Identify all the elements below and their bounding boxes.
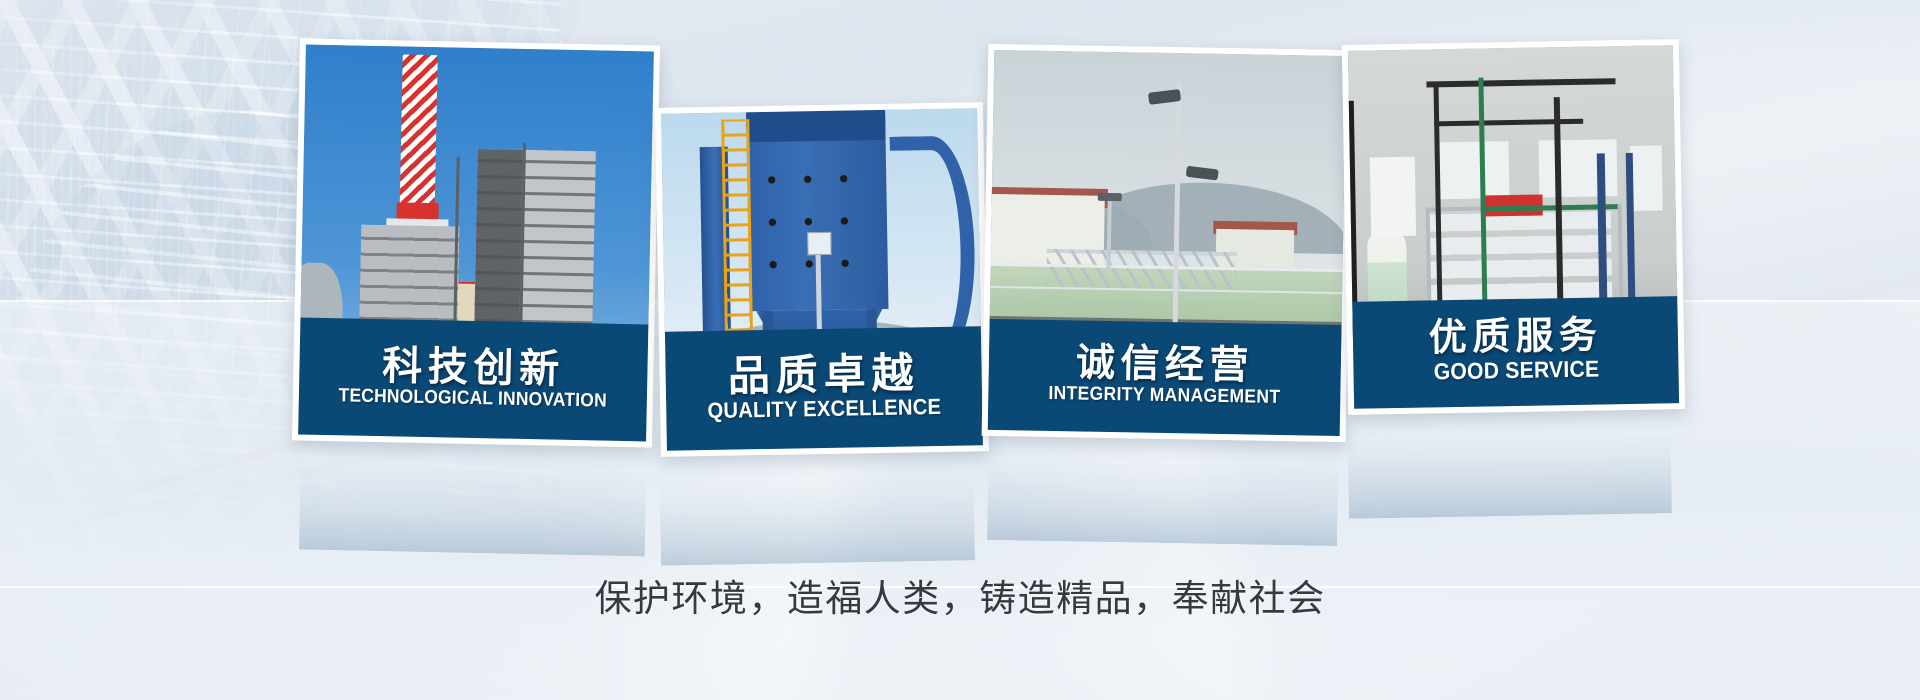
panel-title-cn: 科技创新 <box>382 345 565 391</box>
panel-title-cn: 诚信经营 <box>1076 344 1255 388</box>
panel-reflection <box>659 440 975 565</box>
panel-caption: 诚信经营 INTEGRITY MANAGEMENT <box>988 319 1342 436</box>
panel-title-cn: 优质服务 <box>1428 317 1602 360</box>
dust-collector-equipment-photo: 品质卓越 QUALITY EXCELLENCE <box>661 108 983 450</box>
value-panel-quality-excellence[interactable]: 品质卓越 QUALITY EXCELLENCE <box>655 102 989 457</box>
photo-tower-shadow <box>474 149 523 337</box>
background-light-streaks <box>0 430 1920 700</box>
panel-reflection <box>299 430 647 557</box>
value-panel-technological-innovation[interactable]: 科技创新 TECHNOLOGICAL INNOVATION <box>292 38 660 447</box>
photo-window <box>1369 157 1416 237</box>
promo-banner: 科技创新 TECHNOLOGICAL INNOVATION 品质卓越 QU <box>0 0 1920 700</box>
panel-title-en: GOOD SERVICE <box>1433 357 1599 385</box>
panel-title-en: INTEGRITY MANAGEMENT <box>1048 384 1280 409</box>
photo-smokestack <box>400 54 438 218</box>
panel-reflection <box>987 425 1339 546</box>
panel-caption: 优质服务 GOOD SERVICE <box>1352 296 1679 409</box>
photo-window-2 <box>1437 141 1509 200</box>
value-panel-good-service[interactable]: 优质服务 GOOD SERVICE <box>1342 39 1685 415</box>
panel-caption: 科技创新 TECHNOLOGICAL INNOVATION <box>298 317 648 441</box>
photo-window-4 <box>1629 146 1663 211</box>
photo-collector-top <box>746 110 886 143</box>
panel-title-en: TECHNOLOGICAL INNOVATION <box>339 386 608 412</box>
industrial-plant-stack-photo: 科技创新 TECHNOLOGICAL INNOVATION <box>298 45 654 442</box>
water-treatment-room-photo: 优质服务 GOOD SERVICE <box>1348 45 1679 409</box>
wastewater-treatment-plant-photo: 诚信经营 INTEGRITY MANAGEMENT <box>988 50 1347 436</box>
panel-caption: 品质卓越 QUALITY EXCELLENCE <box>665 326 983 450</box>
value-panel-integrity-management[interactable]: 诚信经营 INTEGRITY MANAGEMENT <box>982 44 1353 442</box>
panel-title-en: QUALITY EXCELLENCE <box>707 395 941 423</box>
photo-lamp-head-far <box>1097 192 1122 201</box>
photo-control-box <box>807 232 831 255</box>
banner-tagline: 保护环境，造福人类，铸造精品，奉献社会 <box>0 568 1920 622</box>
panel-title-cn: 品质卓越 <box>728 351 920 398</box>
panel-reflection <box>1347 398 1672 519</box>
